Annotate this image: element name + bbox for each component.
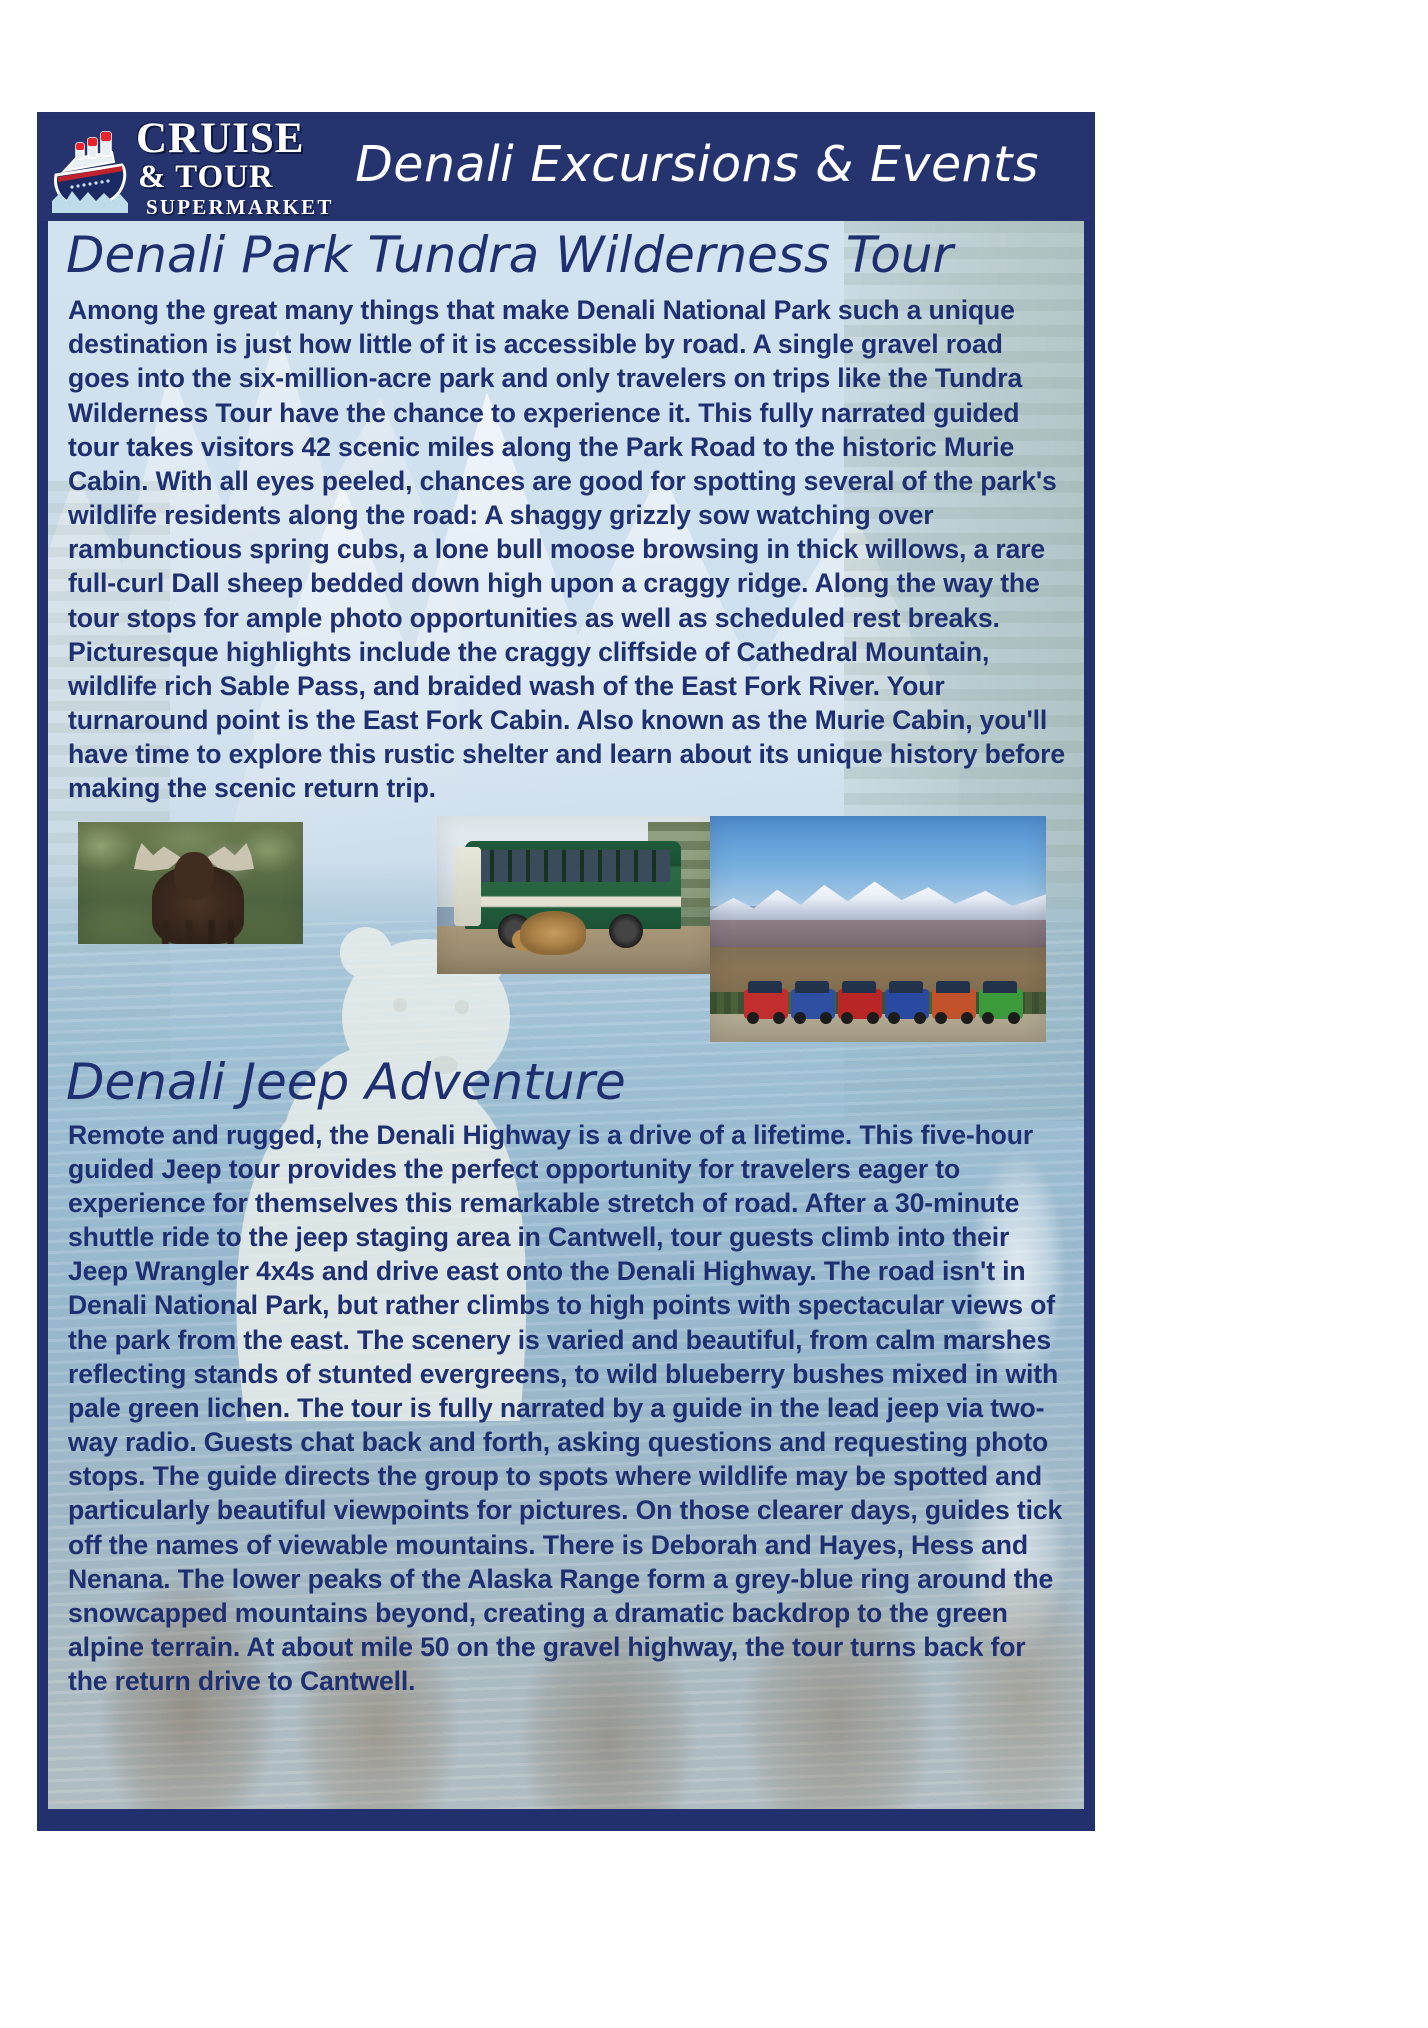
cruise-ship-icon [50,121,132,213]
flyer-header: Cruise & Tour Supermarket Denali Excursi… [38,113,1094,221]
section-body-tundra-tour: Among the great many things that make De… [62,293,1070,806]
logo-line-tour: & Tour [138,161,274,194]
logo-line-supermarket: Supermarket [146,197,334,218]
photo-strip [62,816,1070,1048]
flyer-page: Cruise & Tour Supermarket Denali Excursi… [38,113,1094,1830]
section-body-jeep-adventure: Remote and rugged, the Denali Highway is… [62,1118,1070,1699]
section-title-jeep-adventure: Denali Jeep Adventure [62,1054,1070,1110]
header-title: Denali Excursions & Events [322,136,1094,199]
brand-logo[interactable]: Cruise & Tour Supermarket [50,117,322,217]
document-content: Denali Park Tundra Wilderness Tour Among… [48,227,1084,1699]
flyer-body-panel: Denali Park Tundra Wilderness Tour Among… [48,221,1084,1809]
section-title-tundra-tour: Denali Park Tundra Wilderness Tour [62,227,1070,283]
logo-line-cruise: Cruise [136,117,305,160]
moose-photo [78,822,303,944]
alaska-range-photo [710,816,1046,1042]
tour-bus-photo [437,816,714,974]
